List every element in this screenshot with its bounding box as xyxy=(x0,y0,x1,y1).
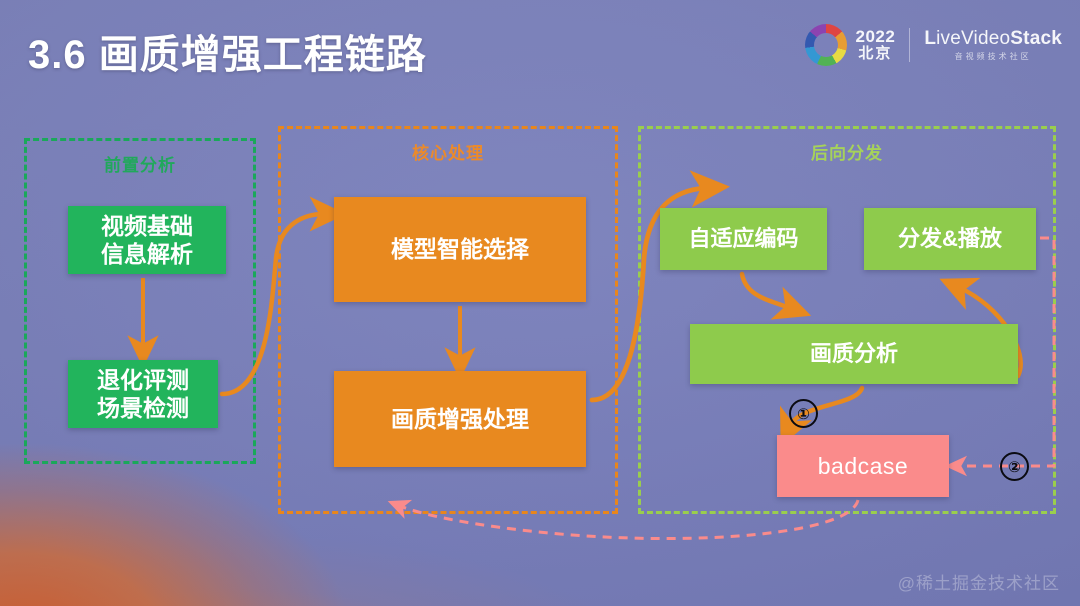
process-box-adaptive-encoding[interactable]: 自适应编码 xyxy=(660,208,827,270)
process-box-badcase[interactable]: badcase xyxy=(777,435,949,497)
process-box-degradation-scene-detection[interactable]: 退化评测 场景检测 xyxy=(68,360,218,428)
slide-canvas: 3.6 画质增强工程链路 2022 北京 LiveVideoStack 音视频技… xyxy=(0,0,1080,606)
logo-divider xyxy=(909,28,910,62)
brand-stack: Stack xyxy=(1010,28,1062,49)
group-label-backward-distribution: 后向分发 xyxy=(641,139,1053,164)
page-title: 3.6 画质增强工程链路 xyxy=(28,22,427,80)
step-marker-two: ② xyxy=(1000,452,1029,481)
process-box-video-info-parsing[interactable]: 视频基础 信息解析 xyxy=(68,206,226,274)
brand-prefix: L xyxy=(924,28,936,49)
logo-color-ring-icon xyxy=(805,24,847,66)
brand-name: LiveVideoStack xyxy=(924,29,1062,50)
watermark: @稀土掘金技术社区 xyxy=(898,569,1060,594)
brand-video: Video xyxy=(961,28,1010,49)
logo-year-text: 2022 xyxy=(856,28,896,46)
brand-tagline: 音视频技术社区 xyxy=(955,53,1032,62)
conference-logo: 2022 北京 LiveVideoStack 音视频技术社区 xyxy=(805,22,1063,68)
process-box-quality-analysis[interactable]: 画质分析 xyxy=(690,324,1018,384)
logo-city-text: 北京 xyxy=(858,46,892,62)
group-label-pre-analysis: 前置分析 xyxy=(27,151,253,176)
process-box-distribute-and-play[interactable]: 分发&播放 xyxy=(864,208,1036,270)
group-label-core-processing: 核心处理 xyxy=(281,139,615,164)
brand-live: ive xyxy=(936,28,961,49)
process-box-model-intelligent-selection[interactable]: 模型智能选择 xyxy=(334,197,586,302)
process-box-quality-enhancement[interactable]: 画质增强处理 xyxy=(334,371,586,467)
logo-year-city: 2022 北京 xyxy=(856,28,896,62)
step-marker-one: ① xyxy=(789,399,818,428)
livevideostack-brand: LiveVideoStack 音视频技术社区 xyxy=(924,29,1062,62)
